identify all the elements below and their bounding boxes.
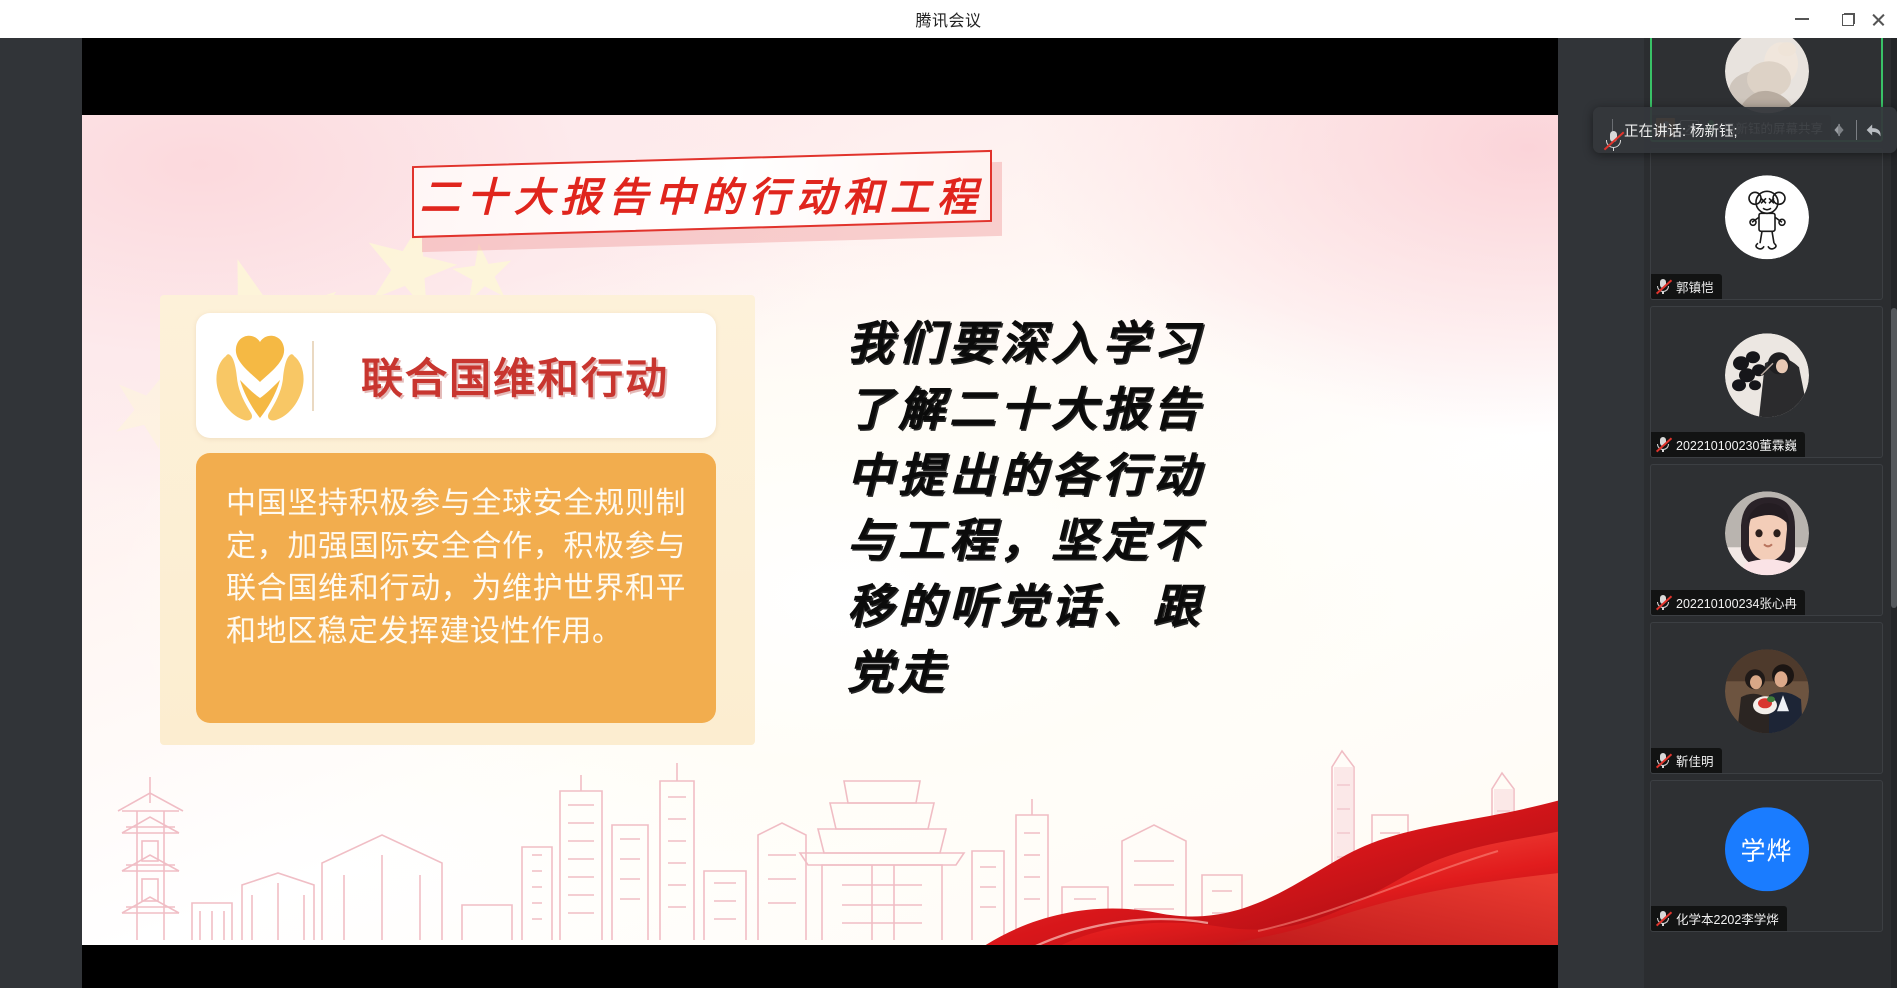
mic-muted-icon: [1655, 910, 1671, 927]
mic-muted-icon: [1655, 278, 1671, 295]
calligraphy-line: 我们要深入学习: [847, 311, 1267, 377]
calligraphy-line: 了解二十大报告: [847, 377, 1267, 443]
close-button[interactable]: [1871, 0, 1897, 38]
close-icon: [1871, 13, 1884, 26]
speaking-label: 正在讲话: 杨新钰;: [1624, 120, 1822, 141]
calligraphy-line: 移的听党话、跟: [847, 574, 1267, 640]
participant-name: 郭镇恺: [1676, 277, 1714, 296]
participant-namebar: 202210100234张心冉: [1651, 590, 1805, 615]
participant-name: 靳佳明: [1676, 751, 1714, 770]
card-header: 联合国维和行动: [196, 313, 716, 438]
participant-name: 202210100230董霖巍: [1676, 435, 1797, 454]
participant-name: 202210100234张心冉: [1676, 593, 1797, 612]
participant-namebar: 郭镇恺: [1651, 274, 1722, 299]
calligraphy-line: 与工程，坚定不: [847, 508, 1267, 574]
avatar: [1725, 491, 1809, 575]
participant-tile[interactable]: 学烨 化学本2202李学烨: [1650, 780, 1883, 932]
participant-tile[interactable]: 202210100230董霖巍: [1650, 306, 1883, 458]
mic-muted-icon: [1655, 594, 1671, 611]
return-icon[interactable]: [1857, 113, 1891, 147]
minimize-button[interactable]: [1779, 0, 1825, 38]
slide-title-plaque: 二十大报告中的行动和工程: [412, 158, 1002, 244]
participant-tile[interactable]: 郭镇恺: [1650, 148, 1883, 300]
window-titlebar: 腾讯会议: [0, 0, 1897, 38]
restore-icon: [1842, 13, 1855, 26]
hands-heart-icon: [208, 326, 312, 426]
sidebar-scrollbar-thumb[interactable]: [1891, 308, 1897, 608]
avatar: [1725, 649, 1809, 733]
speaking-toolbar[interactable]: 正在讲话: 杨新钰;: [1593, 107, 1897, 153]
participant-tile[interactable]: 202210100234张心冉: [1650, 464, 1883, 616]
participant-name: 化学本2202李学烨: [1676, 909, 1779, 928]
slide-content-card: 联合国维和行动 中国坚持积极参与全球安全规则制定，加强国际安全合作，积极参与联合…: [160, 295, 755, 745]
avatar: [1725, 175, 1809, 259]
participant-namebar: 化学本2202李学烨: [1651, 906, 1787, 931]
avatar: [1725, 38, 1809, 113]
sidebar-scrollbar-track[interactable]: [1891, 38, 1897, 988]
card-body: 中国坚持积极参与全球安全规则制定，加强国际安全合作，积极参与联合国维和行动，为维…: [196, 453, 716, 723]
collapse-panel-icon[interactable]: [1822, 113, 1856, 147]
participant-list[interactable]: 杨新钰的屏幕共享: [1644, 38, 1891, 988]
mic-muted-icon: [1655, 436, 1671, 453]
card-heading: 联合国维和行动: [314, 345, 716, 406]
participant-namebar: 靳佳明: [1651, 748, 1722, 773]
participant-sidebar[interactable]: 杨新钰的屏幕共享: [1644, 38, 1897, 988]
mic-muted-icon: [1655, 752, 1671, 769]
app-title: 腾讯会议: [915, 7, 981, 31]
red-silk-ribbon-illustration: [958, 675, 1558, 945]
participant-namebar: 202210100230董霖巍: [1651, 432, 1805, 457]
calligraphy-line: 中提出的各行动: [847, 443, 1267, 509]
slide-title: 二十大报告中的行动和工程: [420, 165, 984, 223]
card-body-text: 中国坚持积极参与全球安全规则制定，加强国际安全合作，积极参与联合国维和行动，为维…: [226, 483, 686, 653]
city-skyline-illustration: [82, 715, 1558, 945]
avatar-initials: 学烨: [1725, 807, 1809, 891]
shared-screen-stage[interactable]: 二十大报告中的行动和工程 联合国维和行动 中国坚持积极参与全球安全规则制定，加: [0, 38, 1644, 988]
window-controls: [1779, 0, 1897, 38]
presentation-slide[interactable]: 二十大报告中的行动和工程 联合国维和行动 中国坚持积极参与全球安全规则制定，加: [82, 115, 1558, 945]
avatar: [1725, 333, 1809, 417]
avatar: 学烨: [1725, 807, 1809, 891]
minimize-icon: [1795, 18, 1809, 20]
calligraphy-line: 党走: [847, 640, 1267, 706]
restore-button[interactable]: [1825, 0, 1871, 38]
calligraphy-block: 我们要深入学习 了解二十大报告 中提出的各行动 与工程，坚定不 移的听党话、跟 …: [847, 311, 1267, 706]
participant-tile[interactable]: 靳佳明: [1650, 622, 1883, 774]
